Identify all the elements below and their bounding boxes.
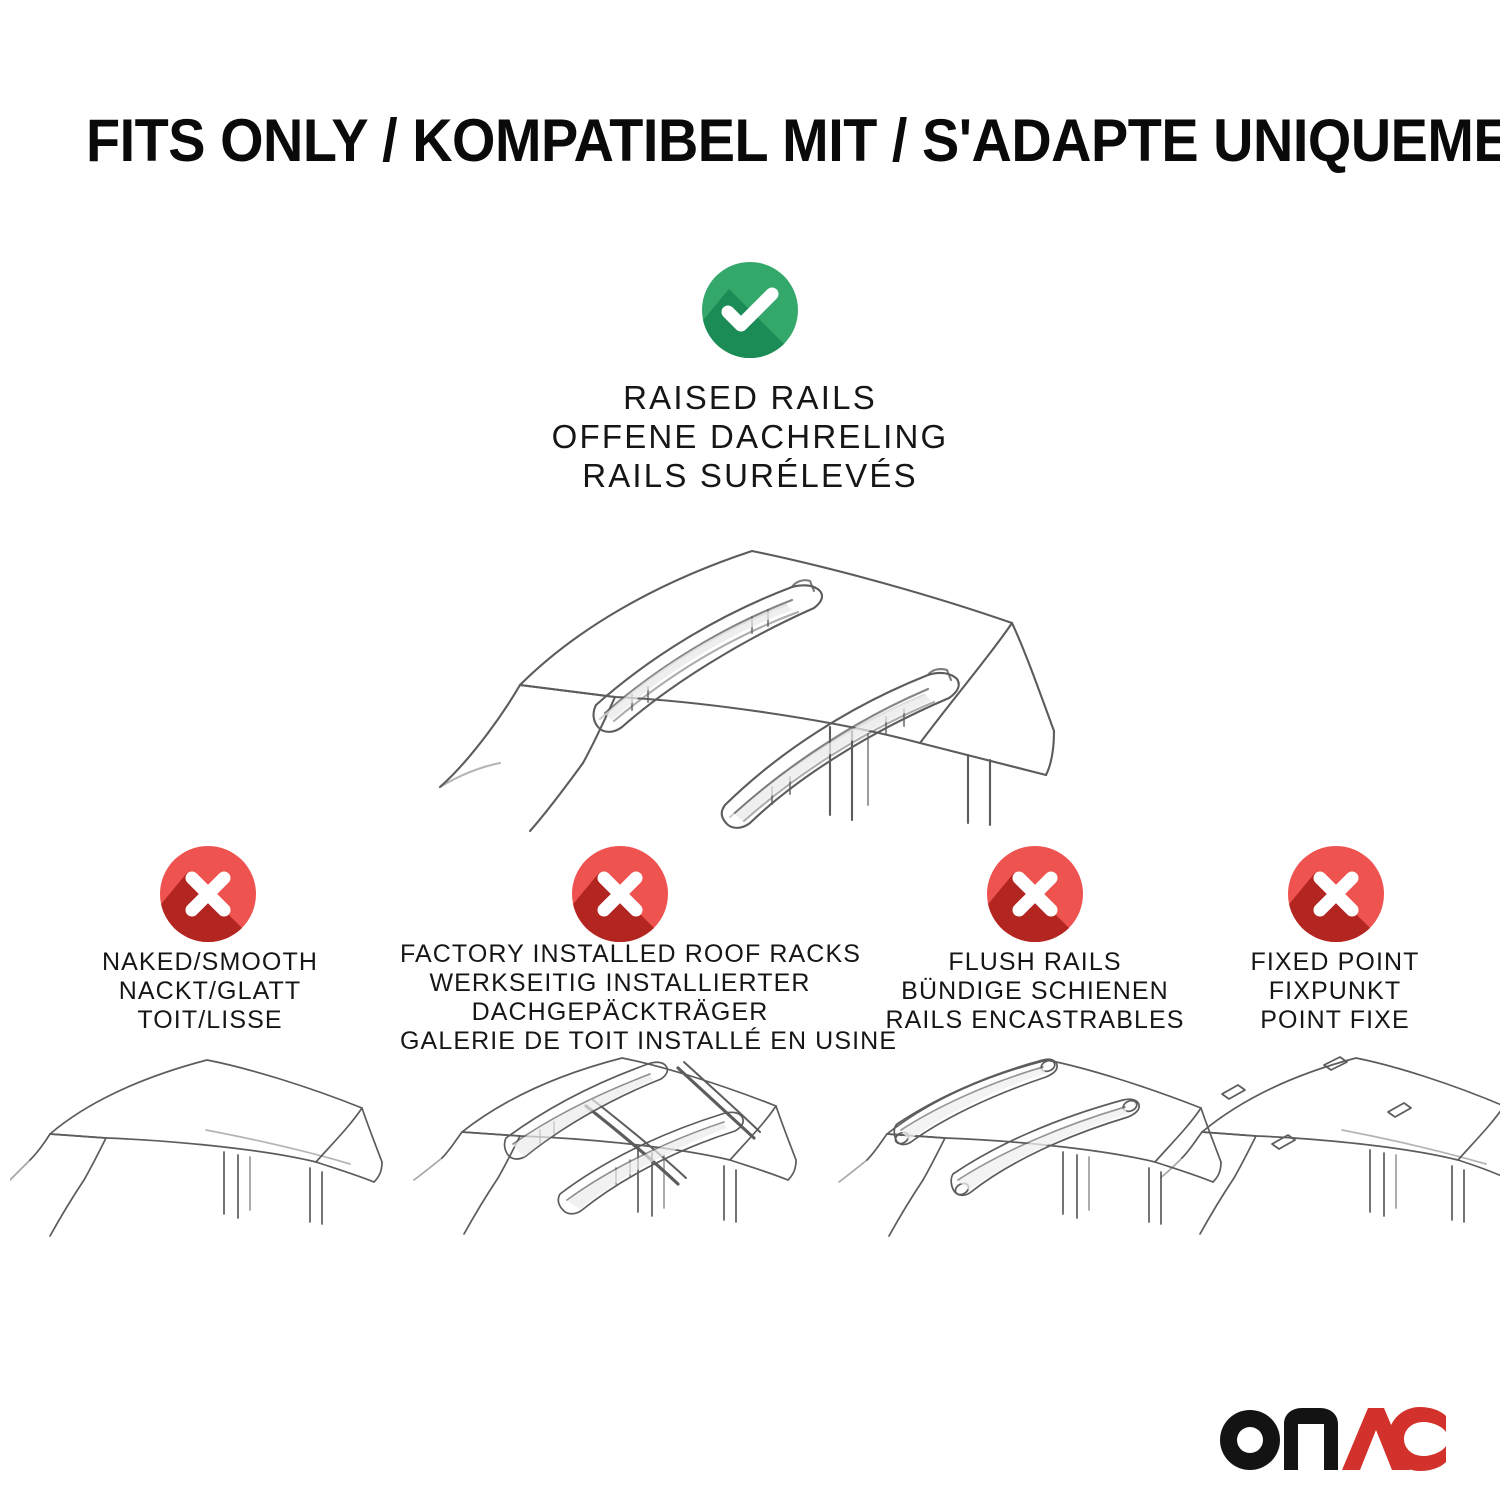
compatible-label: RAISED RAILS OFFENE DACHRELING RAILS SUR… bbox=[450, 378, 1050, 495]
cross-mark-glyph bbox=[160, 846, 256, 942]
naked-smooth-label-line-3: TOIT/LISSE bbox=[0, 1006, 420, 1035]
fixed-point-label-line-1: FIXED POINT bbox=[1170, 948, 1500, 977]
omac-logo bbox=[1216, 1402, 1446, 1474]
incompatible-section: NAKED/SMOOTH NACKT/GLATT TOIT/LISSE bbox=[0, 840, 1500, 1320]
cross-mark-glyph bbox=[572, 846, 668, 942]
logo-letter-m bbox=[1284, 1408, 1338, 1470]
factory-racks-label: FACTORY INSTALLED ROOF RACKS WERKSEITIG … bbox=[400, 940, 840, 1056]
cross-circle-icon bbox=[987, 846, 1083, 942]
logo-letter-o bbox=[1220, 1410, 1280, 1470]
cross-circle-icon bbox=[1288, 846, 1384, 942]
cross-mark-glyph bbox=[1288, 846, 1384, 942]
page-title: FITS ONLY / KOMPATIBEL MIT / S'ADAPTE UN… bbox=[86, 108, 1332, 174]
check-mark-glyph bbox=[702, 262, 798, 358]
factory-racks-label-line-2: WERKSEITIG INSTALLIERTER bbox=[400, 969, 840, 998]
cross-circle-icon bbox=[572, 846, 668, 942]
naked-smooth-label-line-1: NAKED/SMOOTH bbox=[0, 948, 420, 977]
factory-racks-label-line-3: DACHGEPÄCKTRÄGER bbox=[400, 998, 840, 1027]
fixed-point-label-line-2: FIXPUNKT bbox=[1170, 977, 1500, 1006]
compatible-label-line-3: RAILS SURÉLEVÉS bbox=[450, 456, 1050, 495]
car-roof-fixed-point-illustration bbox=[1160, 1052, 1500, 1282]
cross-circle-icon bbox=[160, 846, 256, 942]
car-roof-raised-rails-illustration bbox=[400, 505, 1100, 835]
fixed-point-label: FIXED POINT FIXPUNKT POINT FIXE bbox=[1170, 948, 1500, 1035]
factory-racks-label-line-1: FACTORY INSTALLED ROOF RACKS bbox=[400, 940, 840, 969]
cross-mark-glyph bbox=[987, 846, 1083, 942]
car-roof-factory-roof-racks-illustration bbox=[410, 1052, 810, 1282]
naked-smooth-label: NAKED/SMOOTH NACKT/GLATT TOIT/LISSE bbox=[0, 948, 420, 1035]
fixed-point-label-line-3: POINT FIXE bbox=[1170, 1006, 1500, 1035]
omac-logo-mark bbox=[1216, 1402, 1446, 1474]
compatible-label-line-1: RAISED RAILS bbox=[450, 378, 1050, 417]
compatible-label-line-2: OFFENE DACHRELING bbox=[450, 417, 1050, 456]
car-roof-naked-smooth-illustration bbox=[10, 1052, 390, 1282]
naked-smooth-label-line-2: NACKT/GLATT bbox=[0, 977, 420, 1006]
check-circle-icon bbox=[702, 262, 798, 358]
